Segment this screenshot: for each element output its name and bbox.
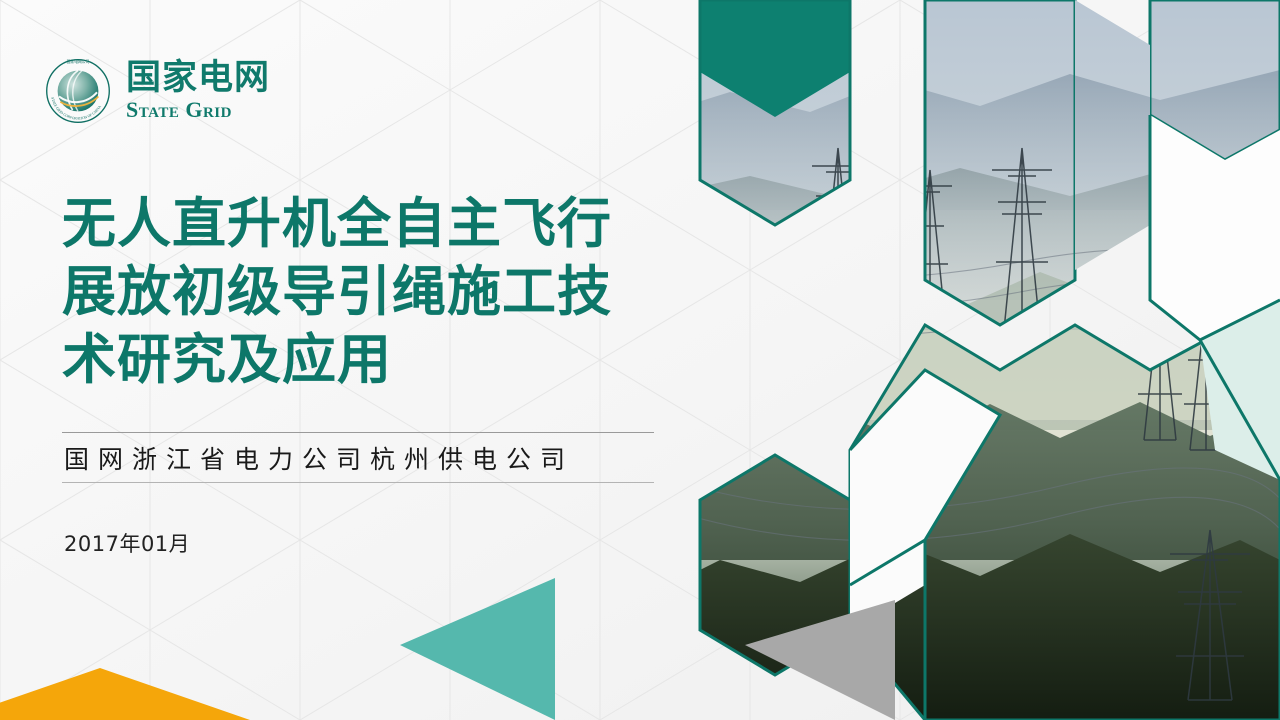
subtitle-rule-bottom — [62, 482, 654, 483]
logo-name-cn: 国家电网 — [126, 61, 270, 96]
state-grid-globe-icon: 国家电网公司 STATE GRID CORPORATION OF CHINA — [44, 57, 112, 125]
slide-content: 国家电网公司 STATE GRID CORPORATION OF CHINA 国… — [0, 0, 700, 720]
hexagon-photo-collage — [640, 0, 1280, 720]
brand-logo: 国家电网公司 STATE GRID CORPORATION OF CHINA 国… — [44, 57, 270, 125]
title-line-1: 无人直升机全自主飞行 — [62, 190, 682, 258]
subtitle-block: 国网浙江省电力公司杭州供电公司 — [62, 432, 654, 483]
title-line-2: 展放初级导引绳施工技 — [62, 258, 682, 326]
presentation-slide: 国家电网公司 STATE GRID CORPORATION OF CHINA 国… — [0, 0, 1280, 720]
organization-name: 国网浙江省电力公司杭州供电公司 — [62, 433, 654, 482]
logo-name-en: State Grid — [126, 99, 270, 121]
page-title: 无人直升机全自主飞行 展放初级导引绳施工技 术研究及应用 — [62, 190, 682, 394]
svg-text:国家电网公司: 国家电网公司 — [67, 59, 90, 64]
photo-mosaic-svg — [640, 0, 1280, 720]
presentation-date: 2017年01月 — [64, 528, 190, 558]
title-line-3: 术研究及应用 — [62, 326, 682, 394]
